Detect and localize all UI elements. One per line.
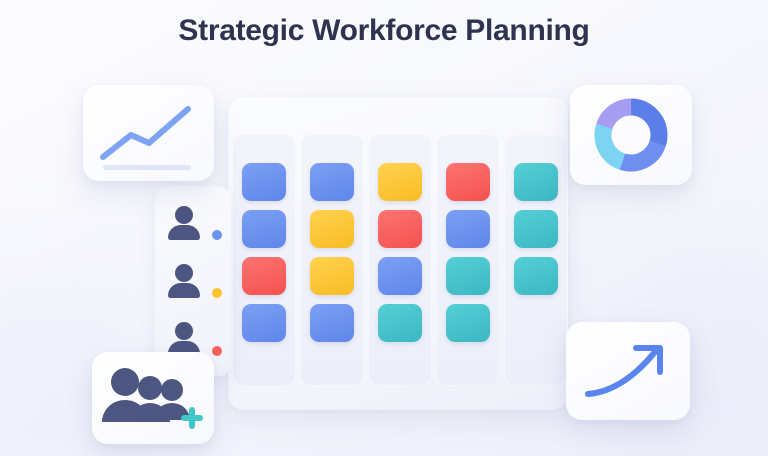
avatar [167, 322, 201, 356]
board-column-5[interactable] [504, 134, 568, 386]
avatar-row[interactable] [165, 258, 221, 304]
board-tile[interactable] [514, 257, 558, 295]
screenshot-root: Strategic Workforce Planning [0, 0, 768, 456]
board-tile[interactable] [310, 163, 354, 201]
avatar-body-icon [168, 283, 200, 298]
board-tile[interactable] [446, 210, 490, 248]
add-team-card[interactable] [92, 352, 214, 444]
board-tile[interactable] [310, 210, 354, 248]
board-tile[interactable] [514, 163, 558, 201]
avatar-row[interactable] [165, 200, 221, 246]
page-title: Strategic Workforce Planning [0, 14, 768, 48]
team-avatar-rail [155, 186, 231, 376]
status-badge [212, 230, 222, 240]
avatar-head-icon [175, 264, 193, 282]
board-column-1[interactable] [232, 134, 296, 386]
board-columns [232, 134, 568, 386]
board-tile[interactable] [446, 304, 490, 342]
board-column-4[interactable] [436, 134, 500, 386]
growth-card[interactable] [566, 322, 690, 420]
board-tile[interactable] [378, 304, 422, 342]
avatar-head-icon [175, 206, 193, 224]
board-tile[interactable] [310, 304, 354, 342]
board-tile[interactable] [242, 304, 286, 342]
board-tile[interactable] [378, 163, 422, 201]
avatar-body-icon [168, 225, 200, 240]
add-people-icon [92, 352, 214, 444]
board-tile[interactable] [242, 210, 286, 248]
board-tile[interactable] [242, 257, 286, 295]
growth-arrow-icon [566, 322, 690, 420]
board-tile[interactable] [242, 163, 286, 201]
board-tile[interactable] [446, 257, 490, 295]
board-tile[interactable] [310, 257, 354, 295]
board-column-3[interactable] [368, 134, 432, 386]
avatar [167, 264, 201, 298]
board-tile[interactable] [378, 257, 422, 295]
board-column-2[interactable] [300, 134, 364, 386]
board-tile[interactable] [446, 163, 490, 201]
status-badge [212, 288, 222, 298]
avatar-head-icon [175, 322, 193, 340]
distribution-card[interactable] [570, 85, 692, 185]
avatar [167, 206, 201, 240]
donut-chart-icon [570, 85, 692, 185]
board-tile[interactable] [514, 210, 558, 248]
board-tile[interactable] [378, 210, 422, 248]
trend-line-card[interactable] [83, 85, 214, 181]
line-chart-icon [83, 85, 214, 181]
